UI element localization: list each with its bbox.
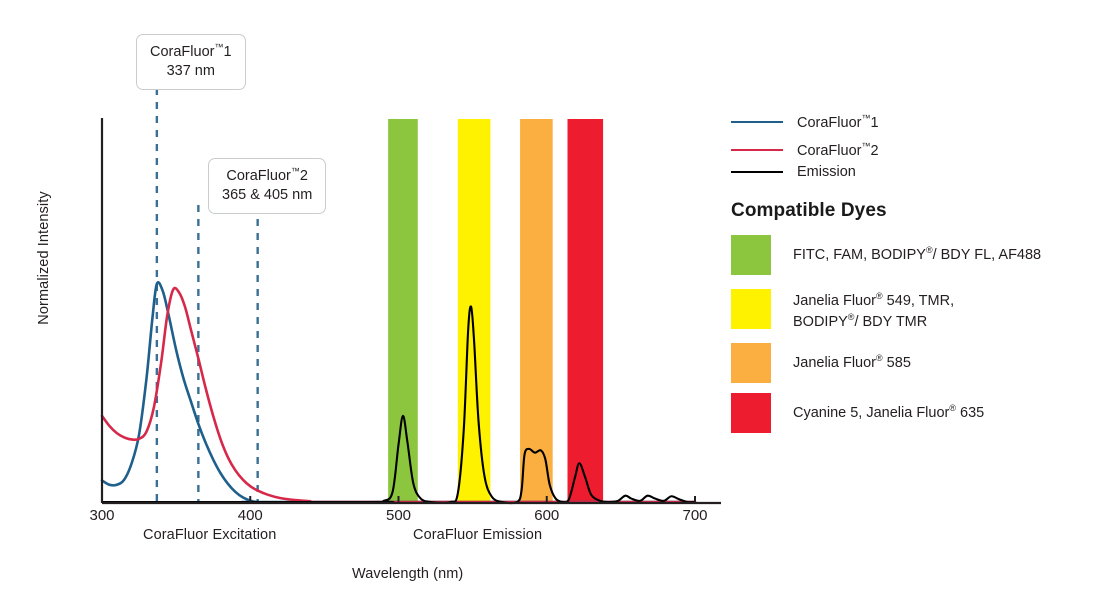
callout-cf2-index: 2 xyxy=(300,168,308,184)
legend-label-base: CoraFluor xyxy=(797,143,861,159)
compatible-dyes-title: Compatible Dyes xyxy=(731,200,887,222)
tick-label-400: 400 xyxy=(238,507,263,524)
red-band xyxy=(568,119,604,502)
callout-corafluor2: CoraFluor™2 365 & 405 nm xyxy=(208,158,326,214)
dye-color-swatch xyxy=(731,343,771,383)
legend-row-2: Emission xyxy=(731,164,856,180)
registered-icon: ® xyxy=(926,245,933,255)
excitation-region-label: CoraFluor Excitation xyxy=(143,527,276,543)
tick-label-700: 700 xyxy=(682,507,707,524)
dye-label-line: BODIPY®/ BDY TMR xyxy=(793,311,954,332)
callout-cf1-index: 1 xyxy=(223,44,231,60)
figure-root: 300400500600700 Normalized Intensity Wav… xyxy=(0,0,1110,612)
dye-color-swatch xyxy=(731,235,771,275)
tick-label-300: 300 xyxy=(89,507,114,524)
legend-line-label: CoraFluor™1 xyxy=(797,113,879,131)
dye-label: Janelia Fluor® 549, TMR,BODIPY®/ BDY TMR xyxy=(793,289,954,333)
dye-label-line: Janelia Fluor® 549, TMR, xyxy=(793,290,954,311)
dye-color-swatch xyxy=(731,289,771,329)
legend-line-swatch-icon xyxy=(731,171,783,173)
callout-corafluor1: CoraFluor™1 337 nm xyxy=(136,34,246,90)
callout-cf1-value: 337 nm xyxy=(150,62,232,81)
registered-icon: ® xyxy=(876,291,883,301)
dye-row-2: Janelia Fluor® 585 xyxy=(731,343,911,383)
legend-line-label: Emission xyxy=(797,164,856,180)
callout-cf1-name: CoraFluor xyxy=(150,44,214,60)
registered-icon: ® xyxy=(848,312,855,322)
emission-region-label: CoraFluor Emission xyxy=(413,527,542,543)
wavelength-bands xyxy=(388,119,603,502)
chart-area: 300400500600700 Normalized Intensity Wav… xyxy=(0,0,730,612)
callout-cf2-value: 365 & 405 nm xyxy=(222,186,312,205)
dye-row-3: Cyanine 5, Janelia Fluor® 635 xyxy=(731,393,984,433)
registered-icon: ® xyxy=(876,353,883,363)
x-axis-title: Wavelength (nm) xyxy=(352,566,463,582)
legend-row-1: CoraFluor™2 xyxy=(731,141,879,159)
callout-cf2-tm: ™ xyxy=(291,166,300,176)
legend-label-base: CoraFluor xyxy=(797,115,861,131)
registered-icon: ® xyxy=(949,403,956,413)
orange-band xyxy=(520,119,553,502)
dye-label: Cyanine 5, Janelia Fluor® 635 xyxy=(793,393,984,423)
legend-line-swatch-icon xyxy=(731,121,783,123)
legend-row-0: CoraFluor™1 xyxy=(731,113,879,131)
dye-label: Janelia Fluor® 585 xyxy=(793,343,911,373)
dye-label-line: Janelia Fluor® 585 xyxy=(793,352,911,373)
dye-label: FITC, FAM, BODIPY®/ BDY FL, AF488 xyxy=(793,235,1041,265)
dye-row-0: FITC, FAM, BODIPY®/ BDY FL, AF488 xyxy=(731,235,1041,275)
callout-cf2-name: CoraFluor xyxy=(226,168,290,184)
dye-color-swatch xyxy=(731,393,771,433)
tick-label-500: 500 xyxy=(386,507,411,524)
dye-label-line: FITC, FAM, BODIPY®/ BDY FL, AF488 xyxy=(793,244,1041,265)
legend-line-label: CoraFluor™2 xyxy=(797,141,879,159)
green-band xyxy=(388,119,418,502)
dye-row-1: Janelia Fluor® 549, TMR,BODIPY®/ BDY TMR xyxy=(731,289,954,333)
legend-label-suffix: 1 xyxy=(870,115,878,131)
tick-label-600: 600 xyxy=(534,507,559,524)
legend-label-base: Emission xyxy=(797,164,856,180)
legend-label-suffix: 2 xyxy=(870,143,878,159)
dye-label-line: Cyanine 5, Janelia Fluor® 635 xyxy=(793,402,984,423)
y-axis-title: Normalized Intensity xyxy=(36,178,52,338)
legend-panel: CoraFluor™1CoraFluor™2Emission FITC, FAM… xyxy=(731,0,1110,612)
legend-line-swatch-icon xyxy=(731,149,783,151)
